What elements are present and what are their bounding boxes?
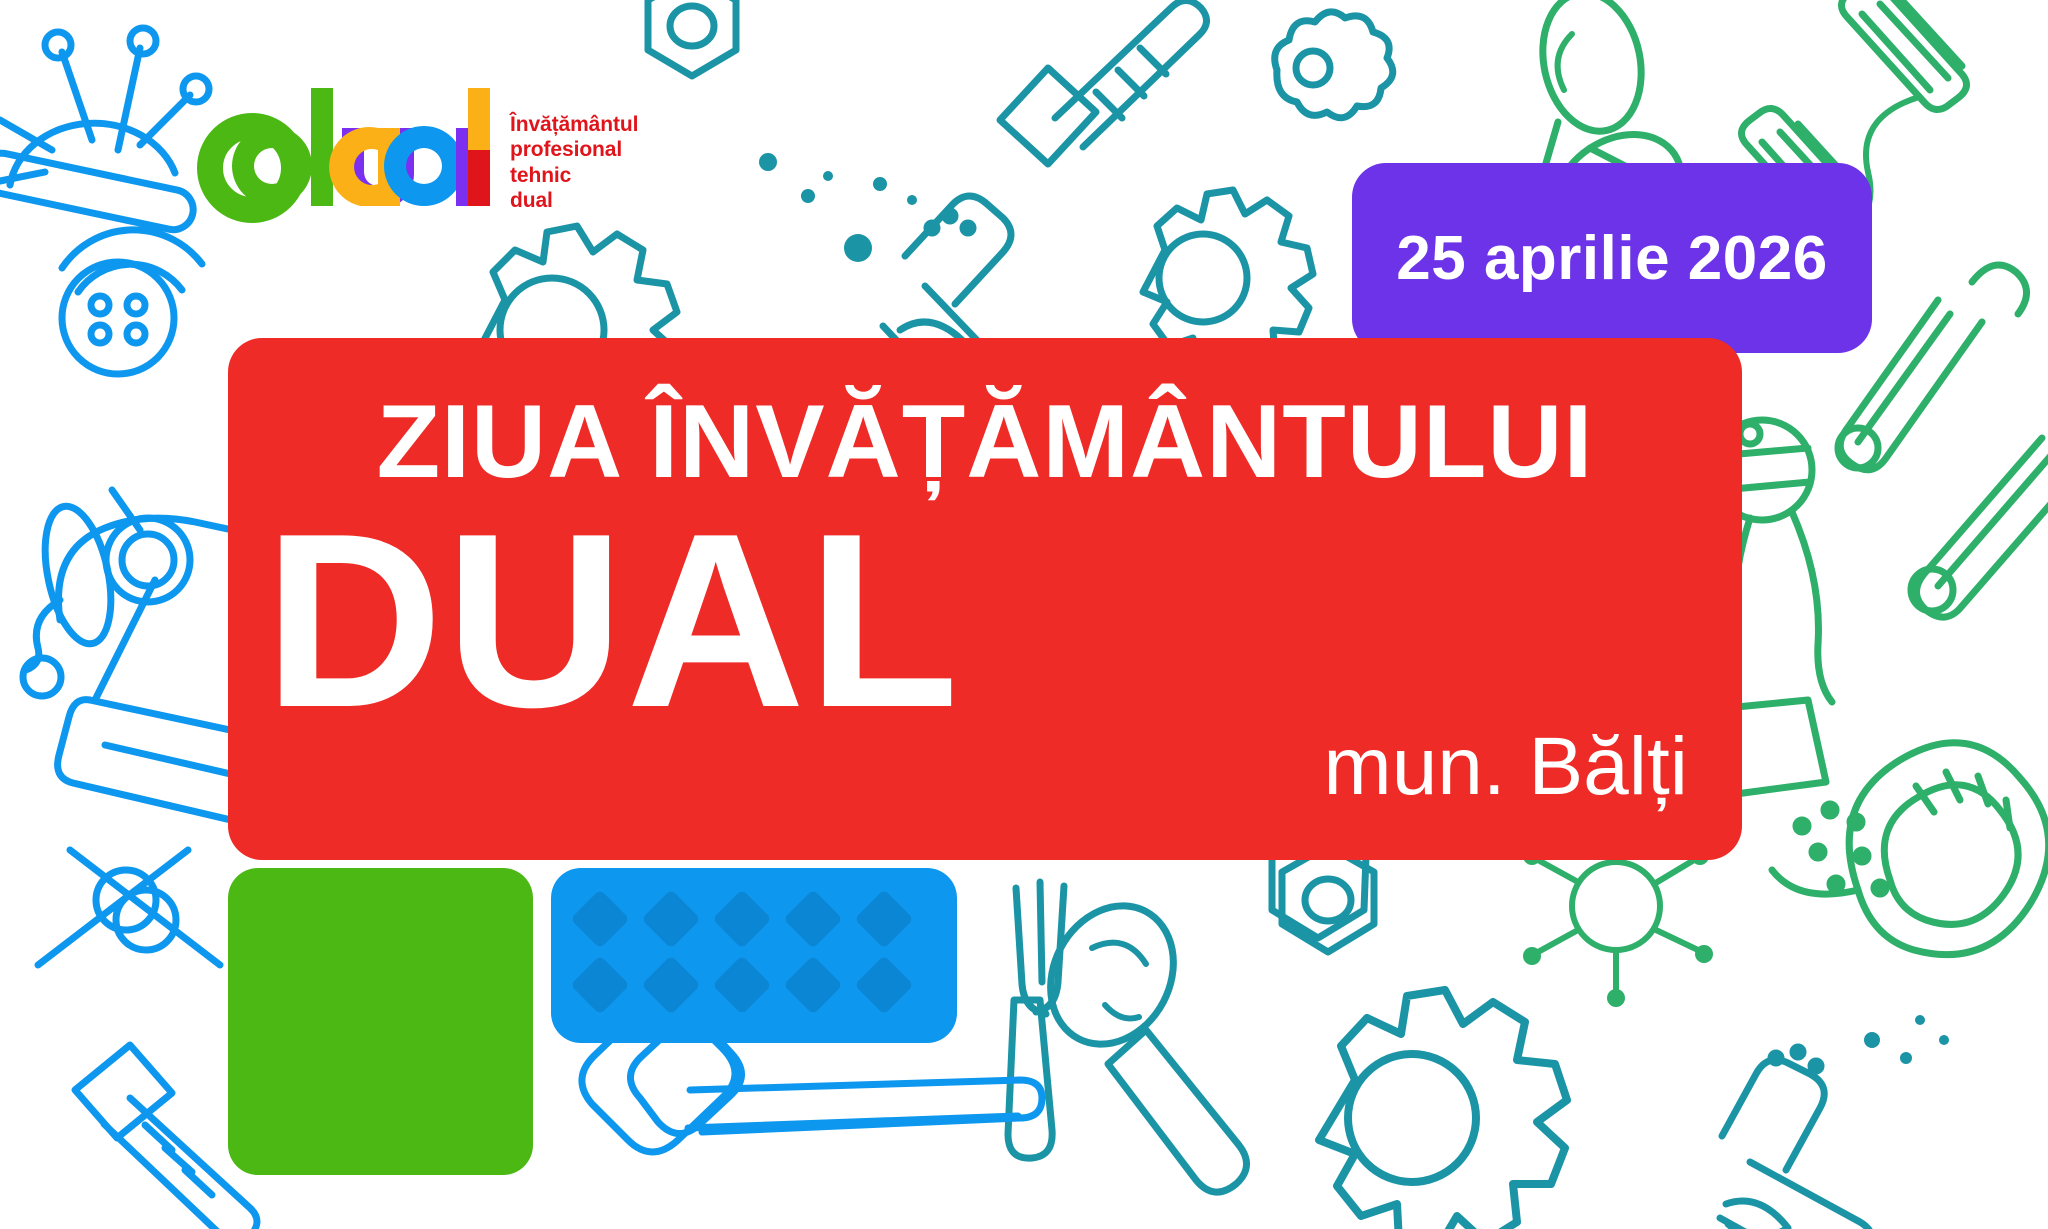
brand-logo[interactable]: Învățământul profesional tehnic dual: [228, 88, 638, 214]
logo-tagline-line-4: dual: [510, 188, 638, 213]
fork-icon: [1008, 882, 1064, 1158]
diamond-pattern: [551, 868, 957, 1043]
safety-pin-icon: [1911, 438, 2048, 617]
nut-icon: [1275, 12, 1393, 118]
measuring-tape-icon: [1772, 743, 2048, 955]
logo-tagline-line-2: profesional: [510, 137, 638, 162]
scissors-icon: [38, 850, 220, 965]
date-badge-text: 25 aprilie 2026: [1396, 223, 1827, 294]
dot: [823, 171, 833, 181]
logo-tagline-line-3: tehnic: [510, 163, 638, 188]
gear-icon: [1319, 990, 1567, 1229]
nut-icon: [1282, 846, 1374, 952]
dot: [907, 195, 917, 205]
dual-wordmark-icon: [228, 88, 490, 206]
logo-tagline: Învățământul profesional tehnic dual: [510, 112, 638, 214]
bolt-icon: [1000, 0, 1207, 164]
dot: [873, 177, 887, 191]
headline-line-1: ZIUA ÎNVĂȚĂMÂNTULUI: [228, 390, 1742, 494]
poster-canvas: Învățământul profesional tehnic dual 25 …: [0, 0, 2048, 1229]
blue-accent-block: [551, 868, 957, 1043]
nut-icon: [648, 0, 736, 76]
dot: [1900, 1052, 1912, 1064]
dot: [844, 234, 872, 262]
event-location: mun. Bălți: [1323, 726, 1688, 808]
salt-shaker-icon: [1720, 1047, 1873, 1229]
button-icon: [62, 262, 174, 374]
spoon-icon: [1027, 884, 1247, 1192]
logo-tagline-line-1: Învățământul: [510, 112, 638, 137]
dot: [759, 153, 777, 171]
headline-panel: ZIUA ÎNVĂȚĂMÂNTULUI DUAL mun. Bălți: [228, 338, 1742, 860]
thread-arc-icon: [62, 230, 202, 292]
dot: [1864, 1032, 1880, 1048]
headline-line-2: DUAL: [264, 496, 961, 744]
dot: [1915, 1015, 1925, 1025]
dot: [801, 189, 815, 203]
green-accent-block: [228, 868, 533, 1175]
dot: [1939, 1035, 1949, 1045]
date-badge: 25 aprilie 2026: [1352, 163, 1872, 353]
pincushion-with-pins-icon: [0, 28, 209, 233]
